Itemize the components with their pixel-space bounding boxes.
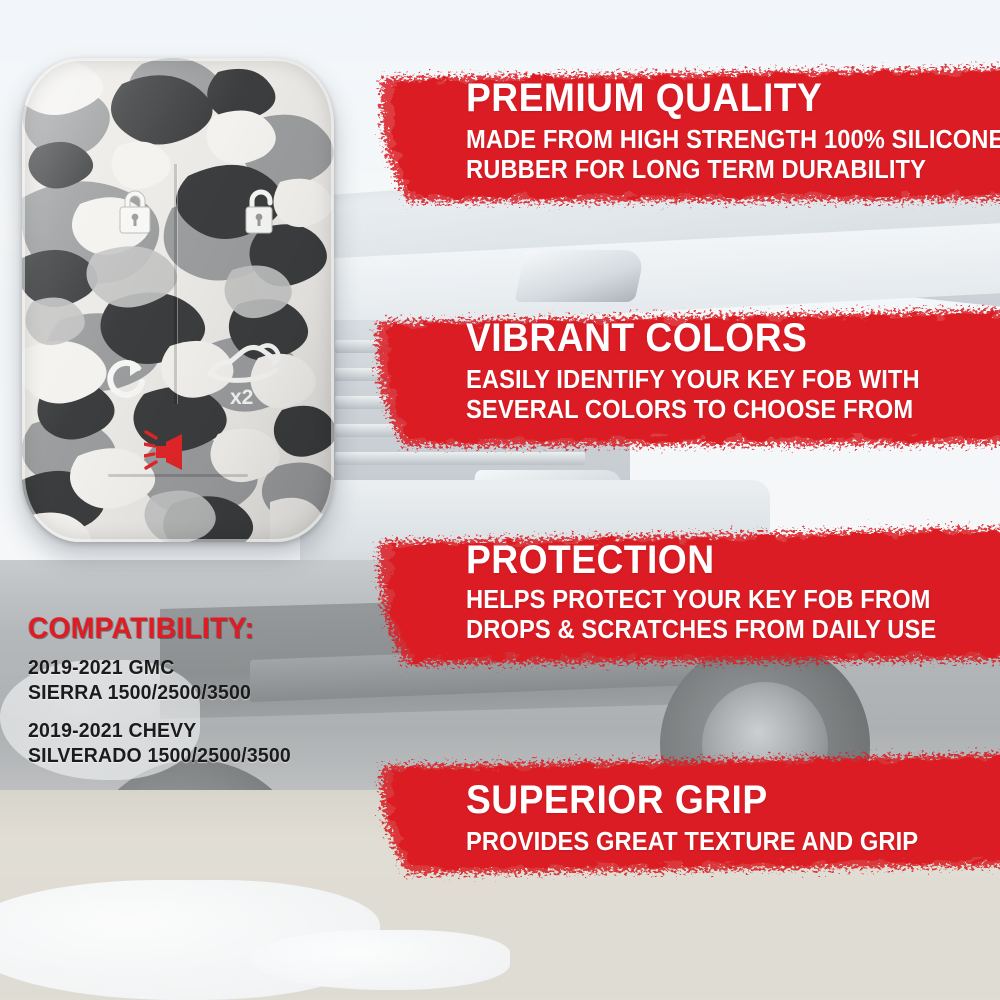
remote-start-button[interactable] (100, 354, 152, 402)
product-feature-graphic: PREMIUM QUALITY MADE FROM HIGH STRENGTH … (0, 0, 1000, 1000)
feature-banner-vibrant-colors: VIBRANT COLORS EASILY IDENTIFY YOUR KEY … (368, 292, 1000, 462)
feature-banner-superior-grip: SUPERIOR GRIP PROVIDES GREAT TEXTURE AND… (368, 742, 1000, 892)
fob-shell: x2 (22, 58, 334, 542)
banner-subtitle-line: MADE FROM HIGH STRENGTH 100% SILICONE (466, 126, 1000, 156)
lock-button[interactable] (114, 185, 156, 237)
feature-banner-premium-quality: PREMIUM QUALITY MADE FROM HIGH STRENGTH … (368, 52, 1000, 222)
banner-subtitle-line: SEVERAL COLORS TO CHOOSE FROM (466, 396, 913, 426)
feature-banner-protection: PROTECTION HELPS PROTECT YOUR KEY FOB FR… (368, 514, 1000, 679)
compatibility-line: 2019-2021 CHEVY (28, 718, 342, 743)
banner-title: PROTECTION (466, 540, 715, 580)
banner-subtitle-line: DROPS & SCRATCHES FROM DAILY USE (466, 616, 936, 646)
compatibility-block: COMPATIBILITY: 2019-2021 GMC SIERRA 1500… (28, 612, 358, 768)
truck-tailgate-icon: x2 (202, 340, 284, 412)
horn-alarm-icon (144, 430, 202, 474)
banner-title: PREMIUM QUALITY (466, 78, 822, 118)
compatibility-line: SILVERADO 1500/2500/3500 (28, 743, 342, 768)
compatibility-group: 2019-2021 GMC SIERRA 1500/2500/3500 (28, 655, 358, 705)
compatibility-line: 2019-2021 GMC (28, 655, 342, 680)
compatibility-group: 2019-2021 CHEVY SILVERADO 1500/2500/3500 (28, 718, 358, 768)
key-fob-cover-product-image: x2 (22, 58, 334, 542)
circular-arrow-icon (100, 354, 152, 402)
banner-title: VIBRANT COLORS (466, 318, 807, 358)
lock-open-icon (240, 185, 282, 237)
tailgate-button[interactable]: x2 (202, 340, 284, 412)
banner-subtitle-line: RUBBER FOR LONG TERM DURABILITY (466, 156, 926, 186)
unlock-button[interactable] (240, 185, 282, 237)
banner-title: SUPERIOR GRIP (466, 780, 768, 820)
banner-subtitle-line: PROVIDES GREAT TEXTURE AND GRIP (466, 828, 918, 858)
lock-closed-icon (114, 185, 156, 237)
panic-button[interactable] (144, 430, 202, 474)
fob-button-seam-lower (108, 474, 248, 477)
compatibility-heading: COMPATIBILITY: (28, 612, 338, 646)
compatibility-line: SIERRA 1500/2500/3500 (28, 680, 342, 705)
banner-subtitle-line: HELPS PROTECT YOUR KEY FOB FROM (466, 586, 931, 616)
tailgate-x2-label: x2 (230, 386, 253, 409)
fob-button-seam-vertical (174, 164, 177, 404)
banner-subtitle-line: EASILY IDENTIFY YOUR KEY FOB WITH (466, 366, 920, 396)
